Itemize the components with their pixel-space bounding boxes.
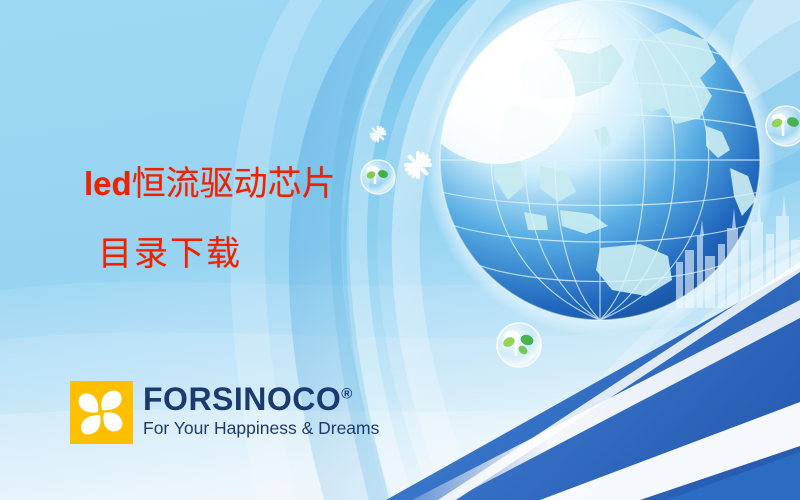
poster-canvas: led恒流驱动芯片 目录下载 FORSINOCO® For Your Happi…: [0, 0, 800, 500]
brand-text-group: FORSINOCO® For Your Happiness & Dreams: [143, 383, 379, 438]
brand-lockup: FORSINOCO® For Your Happiness & Dreams: [70, 381, 379, 444]
bubble-sprout-icon: [361, 160, 395, 194]
bubble-sprout-icon: [497, 323, 541, 367]
brand-logo-mark: [70, 381, 133, 444]
sparkle-star-icon: [370, 126, 387, 143]
sparkle-star-icon: [404, 151, 432, 179]
brand-tagline: For Your Happiness & Dreams: [143, 418, 379, 438]
registered-trademark-icon: ®: [341, 385, 353, 402]
bubble-sprout-icon: [766, 106, 800, 146]
brand-name: FORSINOCO®: [143, 383, 379, 416]
four-petal-flower-icon: [70, 381, 133, 444]
brand-name-text: FORSINOCO: [143, 381, 341, 417]
